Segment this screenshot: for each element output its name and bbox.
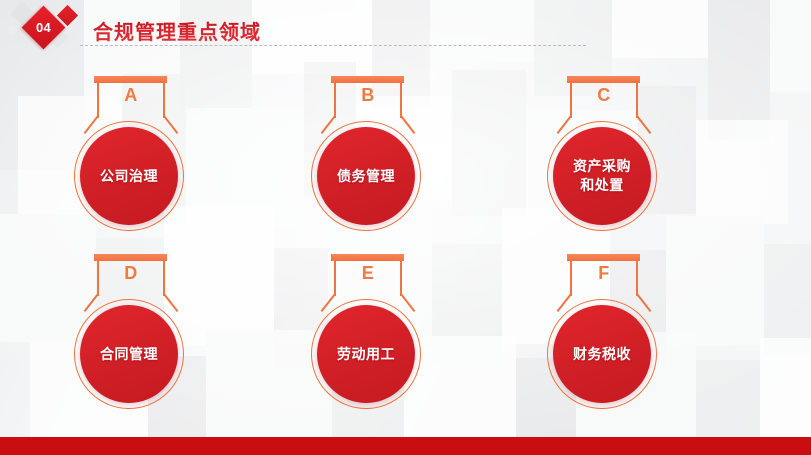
node-letter-f: F (529, 263, 679, 284)
node-label-line: 债务管理 (337, 168, 395, 184)
node-label-line: 劳动用工 (337, 346, 395, 362)
node-f[interactable]: F 财务税收 (529, 254, 679, 316)
node-b[interactable]: B 债务管理 (293, 76, 443, 138)
node-letter-e: E (293, 263, 443, 284)
node-label-d: 合同管理 (94, 345, 164, 364)
flask-cap-bar (94, 254, 167, 261)
node-circle-e[interactable]: 劳动用工 (293, 298, 443, 410)
section-number-label: 04 (28, 12, 59, 43)
slide-header: 04 合规管理重点领域 (0, 0, 811, 62)
node-letter-b: B (293, 85, 443, 106)
circle-fill: 合同管理 (80, 305, 178, 403)
node-e[interactable]: E 劳动用工 (293, 254, 443, 316)
node-c[interactable]: C 资产采购 和处置 (529, 76, 679, 138)
circle-fill: 财务税收 (553, 305, 651, 403)
flask-cap-bar (331, 76, 404, 83)
node-circle-a[interactable]: 公司治理 (56, 120, 206, 232)
flask-cap-bar (331, 254, 404, 261)
node-circle-f[interactable]: 财务税收 (529, 298, 679, 410)
slide: 04 合规管理重点领域 A 公司治理 (0, 0, 811, 455)
node-letter-c: C (529, 85, 679, 106)
node-d[interactable]: D 合同管理 (56, 254, 206, 316)
circle-fill: 资产采购 和处置 (553, 127, 651, 225)
node-letter-d: D (56, 263, 206, 284)
title-divider (80, 45, 586, 46)
section-badge: 04 (6, 2, 92, 58)
node-label-f: 财务税收 (567, 345, 637, 364)
node-label-line: 合同管理 (100, 346, 158, 362)
node-label-b: 债务管理 (331, 167, 401, 186)
node-circle-b[interactable]: 债务管理 (293, 120, 443, 232)
circle-fill: 债务管理 (317, 127, 415, 225)
circle-fill: 公司治理 (80, 127, 178, 225)
flask-cap-bar (94, 76, 167, 83)
node-label-line: 和处置 (580, 177, 624, 193)
node-label-c: 资产采购 和处置 (567, 157, 637, 195)
flask-cap-bar (567, 76, 640, 83)
node-letter-a: A (56, 85, 206, 106)
node-circle-c[interactable]: 资产采购 和处置 (529, 120, 679, 232)
circle-fill: 劳动用工 (317, 305, 415, 403)
node-label-line: 公司治理 (100, 168, 158, 184)
footer-accent-bar (0, 437, 811, 455)
node-a[interactable]: A 公司治理 (56, 76, 206, 138)
node-label-line: 财务税收 (573, 346, 631, 362)
node-label-a: 公司治理 (94, 167, 164, 186)
node-label-line: 资产采购 (573, 158, 631, 174)
page-title: 合规管理重点领域 (93, 16, 261, 45)
decorative-diamond-icon (6, 24, 17, 35)
node-label-e: 劳动用工 (331, 345, 401, 364)
node-circle-d[interactable]: 合同管理 (56, 298, 206, 410)
flask-cap-bar (567, 254, 640, 261)
